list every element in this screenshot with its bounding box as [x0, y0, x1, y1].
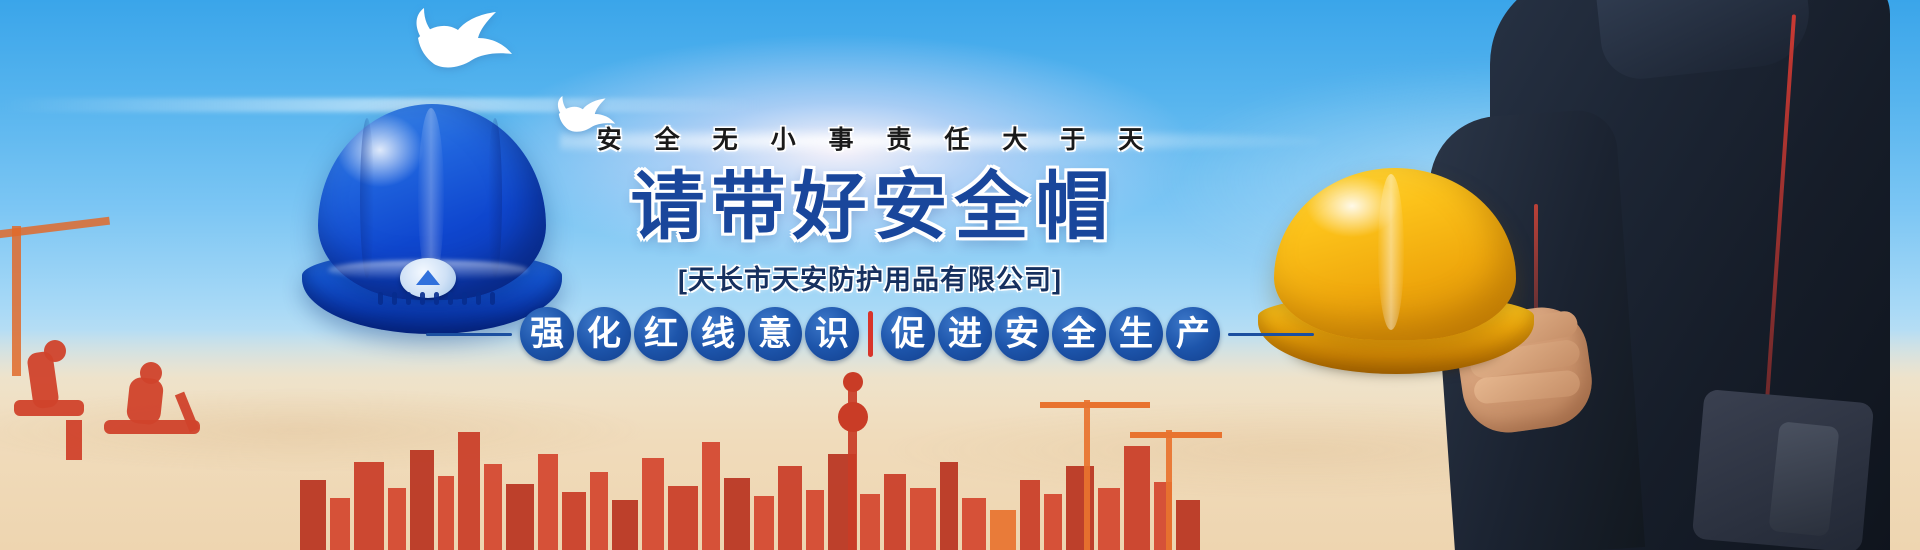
dove-icon [400, 8, 520, 88]
helmet-vents [378, 292, 496, 306]
slogan-rule-left [426, 333, 512, 336]
slogan-char: 促 [881, 307, 935, 361]
slogan-char: 化 [577, 307, 631, 361]
headline: 请带好安全帽 [560, 170, 1180, 244]
slogan-rule-right [1228, 333, 1314, 336]
slogan-separator [862, 307, 878, 361]
safety-banner: 安 全 无 小 事 责 任 大 于 天 请带好安全帽 [天长市天安防护用品有限公… [0, 0, 1920, 550]
slogan-char: 产 [1166, 307, 1220, 361]
slogan-char: 强 [520, 307, 574, 361]
slogan-char: 生 [1109, 307, 1163, 361]
slogan-char: 意 [748, 307, 802, 361]
slogan-chips: 强化红线意识促进安全生产 [520, 307, 1220, 361]
tagline: 安 全 无 小 事 责 任 大 于 天 [560, 120, 1180, 156]
city-skyline [0, 340, 1920, 550]
company-name: [天长市天安防护用品有限公司] [560, 258, 1180, 297]
slogan-char: 进 [938, 307, 992, 361]
slogan-char: 红 [634, 307, 688, 361]
bottom-slogan: 强化红线意识促进安全生产 [500, 303, 1240, 365]
text-block: 安 全 无 小 事 责 任 大 于 天 请带好安全帽 [天长市天安防护用品有限公… [560, 120, 1180, 297]
slogan-char: 安 [995, 307, 1049, 361]
slogan-char: 线 [691, 307, 745, 361]
slogan-char: 全 [1052, 307, 1106, 361]
slogan-char: 识 [805, 307, 859, 361]
